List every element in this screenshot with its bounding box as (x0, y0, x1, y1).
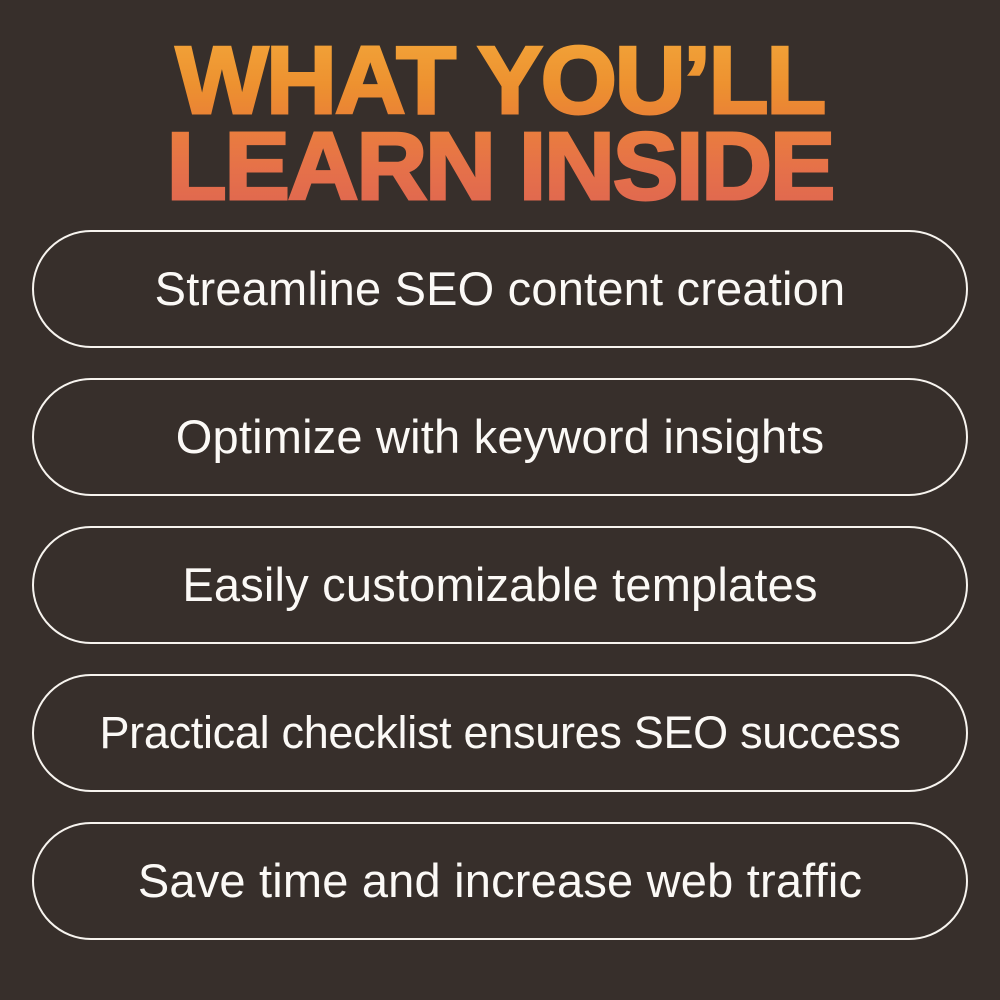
page-title-line-1: WHAT YOU’LL (0, 38, 1000, 124)
page-title: WHAT YOU’LL LEARN INSIDE (0, 38, 1000, 211)
list-item-label: Save time and increase web traffic (124, 857, 876, 904)
list-item[interactable]: Save time and increase web traffic (32, 822, 968, 940)
list-item-label: Easily customizable templates (168, 561, 831, 608)
page-title-line-2: LEARN INSIDE (0, 124, 1000, 210)
list-item[interactable]: Easily customizable templates (32, 526, 968, 644)
promo-poster: WHAT YOU’LL LEARN INSIDE Streamline SEO … (0, 0, 1000, 1000)
list-item[interactable]: Practical checklist ensures SEO success (32, 674, 968, 792)
feature-list: Streamline SEO content creation Optimize… (32, 230, 968, 940)
list-item[interactable]: Streamline SEO content creation (32, 230, 968, 348)
list-item-label: Optimize with keyword insights (162, 413, 839, 460)
list-item-label: Practical checklist ensures SEO success (93, 710, 906, 755)
list-item-label: Streamline SEO content creation (141, 265, 860, 312)
list-item[interactable]: Optimize with keyword insights (32, 378, 968, 496)
